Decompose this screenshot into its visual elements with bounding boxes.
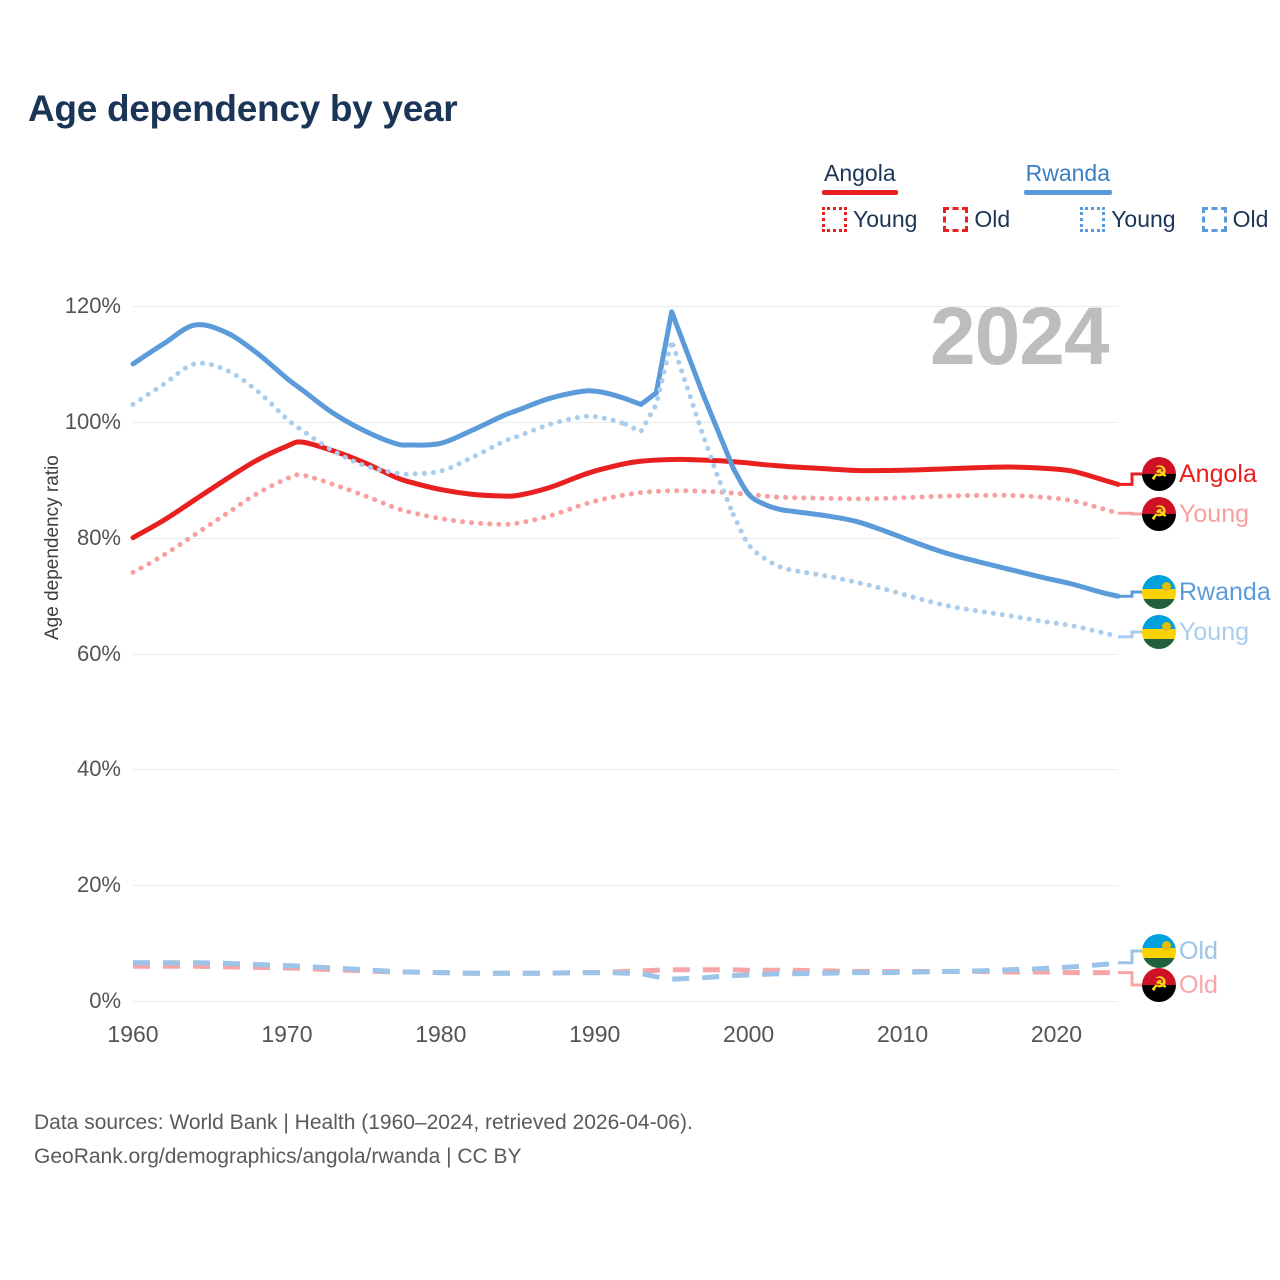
legend-label-angola-old: Old [974, 206, 1010, 233]
legend-country-angola-bar [822, 190, 898, 195]
y-axis-title: Age dependency ratio [42, 455, 64, 640]
x-axis-tick-label: 2000 [723, 1021, 774, 1048]
series-line [133, 363, 626, 474]
rwanda-flag-icon [1142, 934, 1176, 968]
end-label-leader [1118, 592, 1144, 596]
y-axis-tick-label: 0% [89, 988, 121, 1014]
gridline [133, 1001, 1118, 1002]
series-line [133, 325, 626, 445]
series-line [133, 442, 1118, 538]
angola-flag-icon: ☭ [1142, 968, 1176, 1002]
y-axis-tick-label: 100% [65, 409, 121, 435]
rwanda-flag-icon [1142, 615, 1176, 649]
angola-flag-icon: ☭ [1142, 457, 1176, 491]
end-label-leader [1118, 632, 1144, 637]
legend-country-rwanda[interactable]: Rwanda [1024, 160, 1112, 195]
end-label-text: Rwanda [1179, 578, 1271, 607]
end-label-rwanda-total[interactable]: Rwanda [1142, 575, 1271, 609]
plot-area: 0%20%40%60%80%100%120% 19601970198019902… [133, 306, 1118, 1001]
end-label-rwanda-old[interactable]: Old [1142, 934, 1218, 968]
x-axis-tick-label: 2010 [877, 1021, 928, 1048]
x-axis-tick-label: 1980 [415, 1021, 466, 1048]
end-label-text: Young [1179, 618, 1249, 647]
end-label-leader [1118, 474, 1144, 484]
legend-swatch-rwanda-old-icon [1202, 207, 1227, 232]
series-line [626, 312, 734, 468]
legend-country-angola-label: Angola [822, 160, 898, 190]
series-line [133, 963, 1118, 979]
footer-line-2: GeoRank.org/demographics/angola/rwanda |… [34, 1140, 693, 1174]
y-axis-tick-label: 60% [77, 641, 121, 667]
legend-swatch-angola-young-icon [822, 207, 847, 232]
rwanda-flag-icon [1142, 575, 1176, 609]
legend-item-angola-young[interactable]: Young [822, 206, 917, 233]
legend-item-rwanda-old[interactable]: Old [1202, 206, 1269, 233]
legend-country-rwanda-label: Rwanda [1024, 160, 1112, 190]
x-axis-tick-label: 1970 [261, 1021, 312, 1048]
legend-series-row: Young Old Young Old [822, 206, 1252, 233]
legend-country-angola[interactable]: Angola [822, 160, 898, 195]
y-axis-tick-label: 120% [65, 293, 121, 319]
legend-label-rwanda-young: Young [1111, 206, 1175, 233]
y-axis-tick-label: 80% [77, 525, 121, 551]
x-axis-tick-label: 1990 [569, 1021, 620, 1048]
end-label-leader [1118, 973, 1144, 985]
x-axis-tick-label: 2020 [1031, 1021, 1082, 1048]
end-label-angola-total[interactable]: ☭Angola [1142, 457, 1257, 491]
end-label-text: Old [1179, 937, 1218, 966]
end-label-angola-old[interactable]: ☭Old [1142, 968, 1218, 1002]
y-axis-tick-label: 20% [77, 872, 121, 898]
series-lines [133, 306, 1118, 1001]
legend-country-row: Angola Rwanda [812, 160, 1252, 195]
end-label-leader [1118, 951, 1144, 963]
legend-item-rwanda-young[interactable]: Young [1080, 206, 1175, 233]
page-title: Age dependency by year [28, 88, 457, 130]
end-label-leader [1118, 513, 1144, 514]
end-label-text: Angola [1179, 460, 1257, 489]
footer-line-1: Data sources: World Bank | Health (1960–… [34, 1106, 693, 1140]
legend-label-angola-young: Young [853, 206, 917, 233]
legend-swatch-angola-old-icon [943, 207, 968, 232]
end-label-rwanda-young[interactable]: Young [1142, 615, 1249, 649]
legend-label-rwanda-old: Old [1233, 206, 1269, 233]
series-line [733, 515, 1118, 637]
legend: Angola Rwanda Young Old Young [812, 160, 1252, 233]
legend-swatch-rwanda-young-icon [1080, 207, 1105, 232]
y-axis-tick-label: 40% [77, 756, 121, 782]
angola-flag-icon: ☭ [1142, 497, 1176, 531]
end-label-angola-young[interactable]: ☭Young [1142, 497, 1249, 531]
chart-page: Age dependency by year Angola Rwanda You… [0, 0, 1280, 1280]
legend-country-rwanda-bar [1024, 190, 1112, 195]
end-label-text: Young [1179, 500, 1249, 529]
footer: Data sources: World Bank | Health (1960–… [34, 1106, 693, 1174]
series-line [733, 468, 1118, 596]
x-axis-tick-label: 1960 [107, 1021, 158, 1048]
end-label-text: Old [1179, 971, 1218, 1000]
legend-item-angola-old[interactable]: Old [943, 206, 1010, 233]
